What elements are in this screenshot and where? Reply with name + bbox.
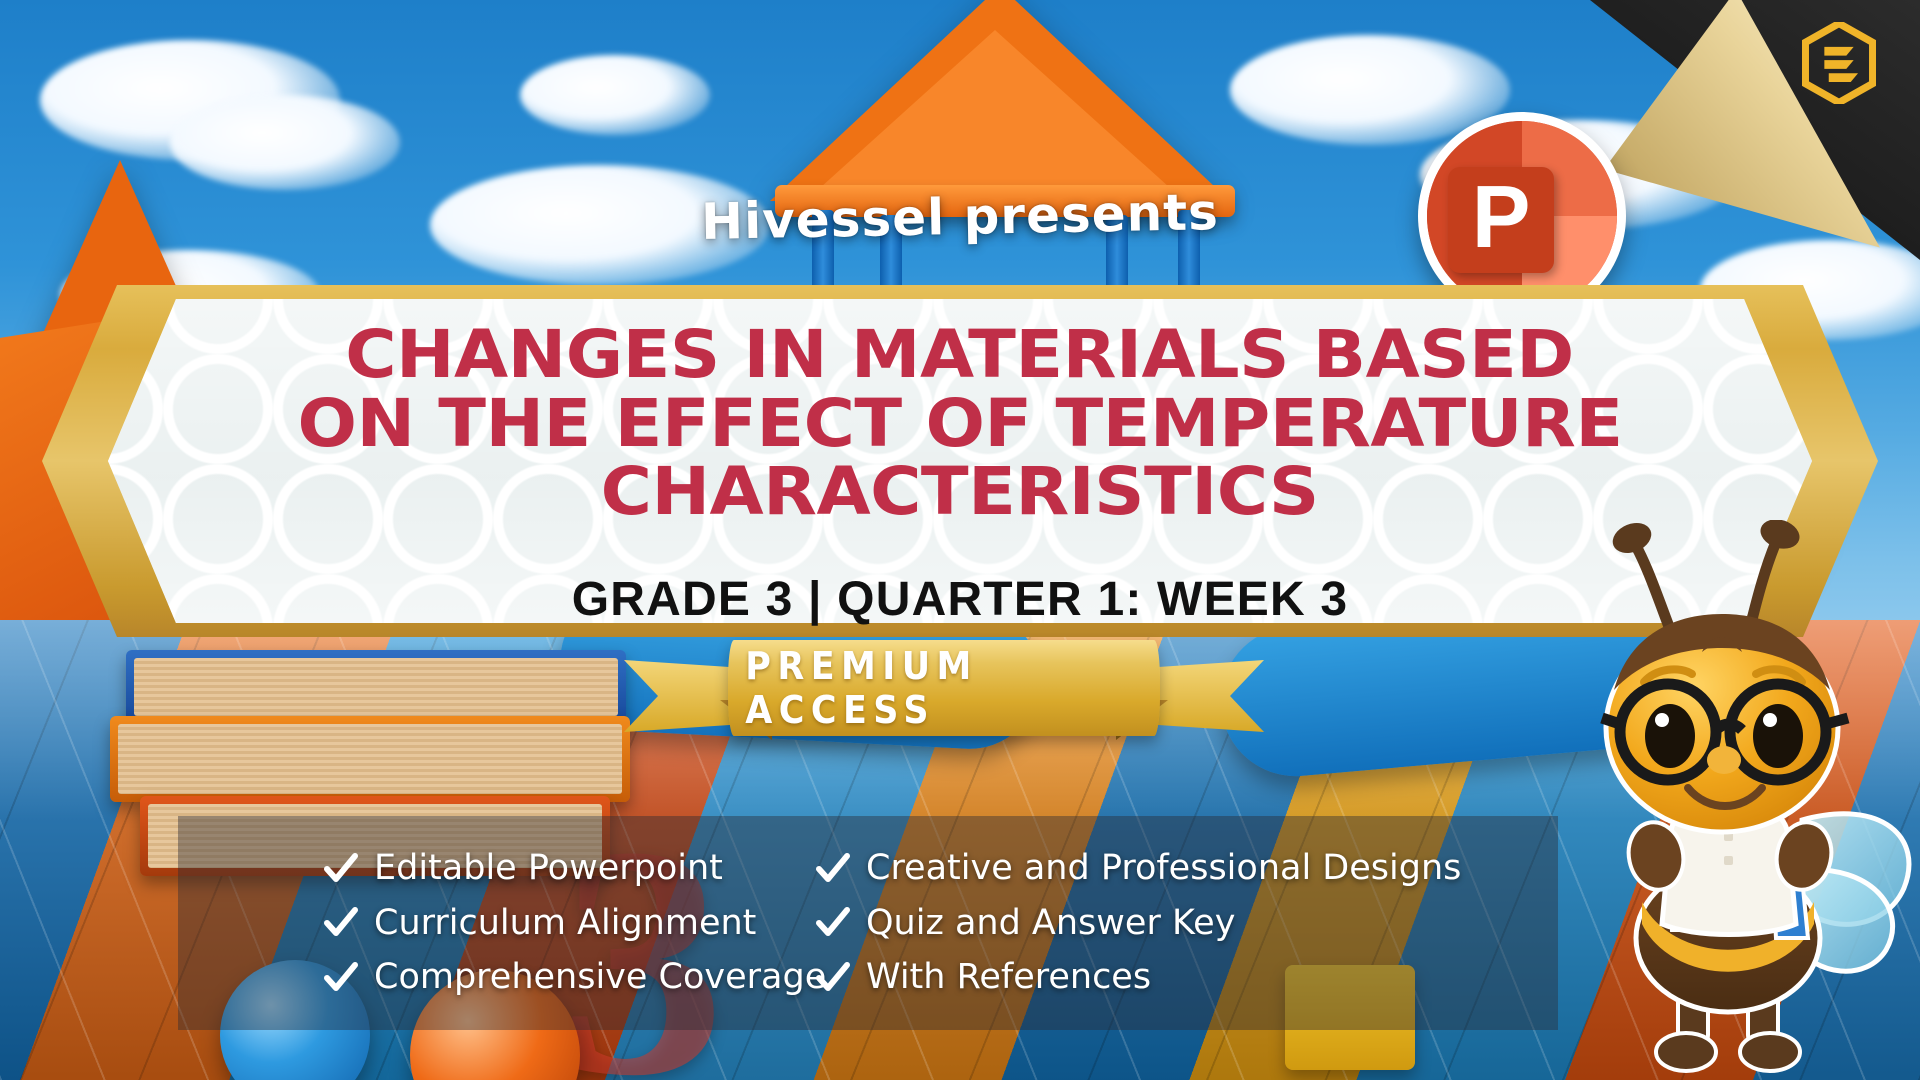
- feature-label: Editable Powerpoint: [374, 849, 723, 888]
- check-icon: [324, 961, 358, 995]
- bee-eye: [1645, 704, 1695, 768]
- book: [110, 716, 630, 802]
- ribbon-label: PREMIUM ACCESS: [745, 644, 1142, 732]
- features-column-left: Editable Powerpoint Curriculum Alignment…: [178, 849, 708, 997]
- bee-head: [1602, 614, 1848, 832]
- feature-label: Curriculum Alignment: [374, 904, 756, 943]
- title-line-1: CHANGES IN MATERIALS BASED: [346, 321, 1575, 390]
- cloud: [520, 55, 710, 135]
- feature-item: Editable Powerpoint: [324, 849, 708, 888]
- check-icon: [816, 961, 850, 995]
- bee-mascot: [1552, 520, 1920, 1080]
- feature-label: Creative and Professional Designs: [866, 849, 1461, 888]
- hivessel-hex-logo-icon: [1802, 22, 1876, 104]
- ribbon-body: PREMIUM ACCESS: [728, 640, 1160, 736]
- premium-access-ribbon: PREMIUM ACCESS: [624, 640, 1264, 748]
- check-icon: [816, 906, 850, 940]
- feature-item: Quiz and Answer Key: [816, 904, 1408, 943]
- feature-label: Quiz and Answer Key: [866, 904, 1235, 943]
- bee-eye: [1753, 704, 1803, 768]
- check-icon: [324, 852, 358, 886]
- check-icon: [324, 906, 358, 940]
- title-line-3: CHARACTERISTICS: [601, 458, 1319, 527]
- bee-shirt-button: [1724, 856, 1733, 865]
- bee-nose: [1707, 746, 1741, 774]
- features-panel: Editable Powerpoint Curriculum Alignment…: [178, 816, 1558, 1030]
- feature-item: Comprehensive Coverage: [324, 958, 708, 997]
- feature-item: With References: [816, 958, 1408, 997]
- check-icon: [816, 852, 850, 886]
- feature-label: With References: [866, 958, 1151, 997]
- book: [126, 650, 626, 724]
- bee-antenna-tip: [1757, 520, 1804, 553]
- title-line-2: ON THE EFFECT OF TEMPERATURE: [297, 390, 1622, 459]
- bee-antenna-tip: [1608, 520, 1656, 558]
- feature-item: Creative and Professional Designs: [816, 849, 1408, 888]
- features-column-right: Creative and Professional Designs Quiz a…: [708, 849, 1408, 997]
- feature-item: Curriculum Alignment: [324, 904, 708, 943]
